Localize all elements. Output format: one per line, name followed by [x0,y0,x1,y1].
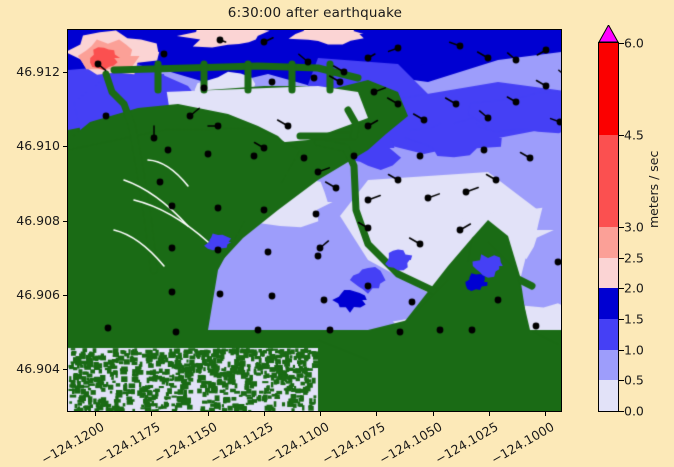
x-axis-tick-mark [95,412,96,416]
x-axis-tick-mark [264,412,265,416]
colorbar-band [599,380,618,411]
map-axes[interactable] [67,29,562,412]
colorbar-band [599,257,618,288]
y-axis-tick-label: 46.910 [0,138,60,153]
colorbar-tick-label: 2.5 [624,250,644,265]
colorbar-band [599,134,618,227]
y-axis-tick-mark [63,295,67,296]
colorbar-band [599,42,618,135]
x-axis-tick-label: −124.1025 [432,419,500,467]
x-axis-tick-mark [208,412,209,416]
x-axis-tick-mark [489,412,490,416]
colorbar-tick-label: 3.0 [624,220,644,235]
colorbar-tick-label: 0.5 [624,373,644,388]
x-axis-tick-label: −124.1075 [320,419,388,467]
x-axis-tick-mark [376,412,377,416]
x-axis-tick-label: −124.1050 [376,419,444,467]
colorbar-tick-label: 2.0 [624,281,644,296]
y-axis-tick-label: 46.906 [0,287,60,302]
colorbar-tick-label: 1.0 [624,342,644,357]
x-axis-tick-label: −124.1100 [264,419,332,467]
x-axis-tick-mark [151,412,152,416]
y-axis-tick-mark [63,221,67,222]
x-axis-tick-label: −124.1125 [207,419,275,467]
x-axis-tick-label: −124.1175 [95,419,163,467]
speed-field-raster [68,30,561,411]
colorbar-band [599,226,618,257]
x-axis-tick-mark [320,412,321,416]
colorbar-label: meters / sec [646,151,661,228]
y-axis-tick-mark [63,72,67,73]
colorbar-tick-label: 1.5 [624,312,644,327]
colorbar-band [599,288,618,319]
colorbar-over-arrow [598,25,619,43]
figure-canvas: 6:30:00 after earthquake 46.90446.90646.… [0,0,674,463]
colorbar[interactable] [598,42,619,412]
y-axis-tick-label: 46.908 [0,213,60,228]
colorbar-tick-label: 6.0 [624,36,644,51]
x-axis-tick-label: −124.1000 [489,419,557,467]
chart-title: 6:30:00 after earthquake [67,5,563,21]
x-axis-tick-mark [433,412,434,416]
y-axis-tick-label: 46.904 [0,361,60,376]
colorbar-band [599,318,618,349]
x-axis-tick-mark [545,412,546,416]
x-axis-tick-label: −124.1200 [39,419,107,467]
colorbar-band [599,349,618,380]
y-axis-tick-mark [63,146,67,147]
colorbar-tick-label: 0.0 [624,404,644,419]
y-axis-tick-label: 46.912 [0,64,60,79]
colorbar-tick-label: 4.5 [624,128,644,143]
x-axis-tick-label: −124.1150 [151,419,219,467]
y-axis-tick-mark [63,369,67,370]
